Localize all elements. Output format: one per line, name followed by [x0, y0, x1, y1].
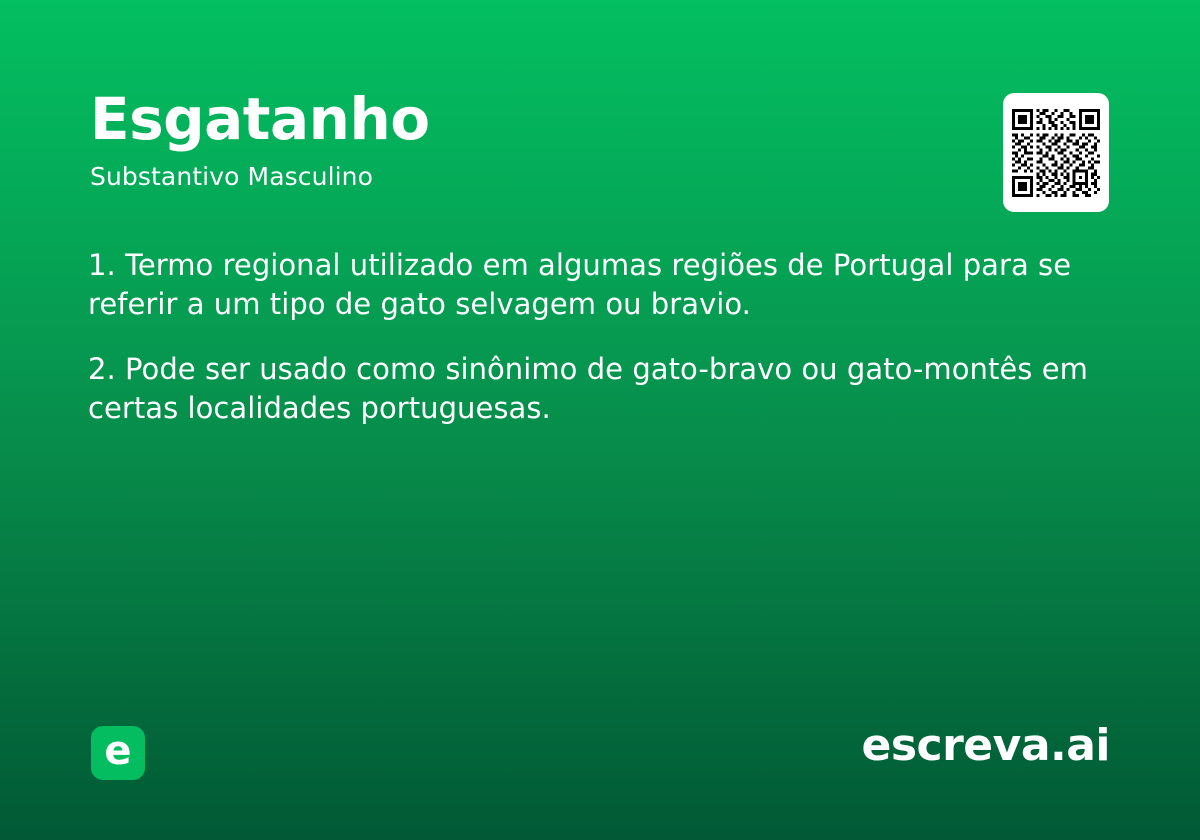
dictionary-card: Esgatanho Substantivo Masculino: [0, 0, 1200, 840]
word-class-label: Substantivo Masculino: [90, 163, 970, 191]
card-header: Esgatanho Substantivo Masculino: [90, 88, 970, 190]
definition-item: 2. Pode ser usado como sinônimo de gato-…: [88, 350, 1110, 428]
definitions-list: 1. Termo regional utilizado em algumas r…: [88, 246, 1110, 428]
definition-item: 1. Termo regional utilizado em algumas r…: [88, 246, 1110, 324]
escreva-logo-mark: e: [91, 726, 145, 780]
qr-code-card[interactable]: [1003, 93, 1109, 212]
logo-letter: e: [104, 731, 131, 771]
page-title: Esgatanho: [90, 88, 970, 151]
brand-wordmark: escreva.ai: [861, 722, 1110, 770]
qr-code-icon: [1012, 109, 1100, 197]
